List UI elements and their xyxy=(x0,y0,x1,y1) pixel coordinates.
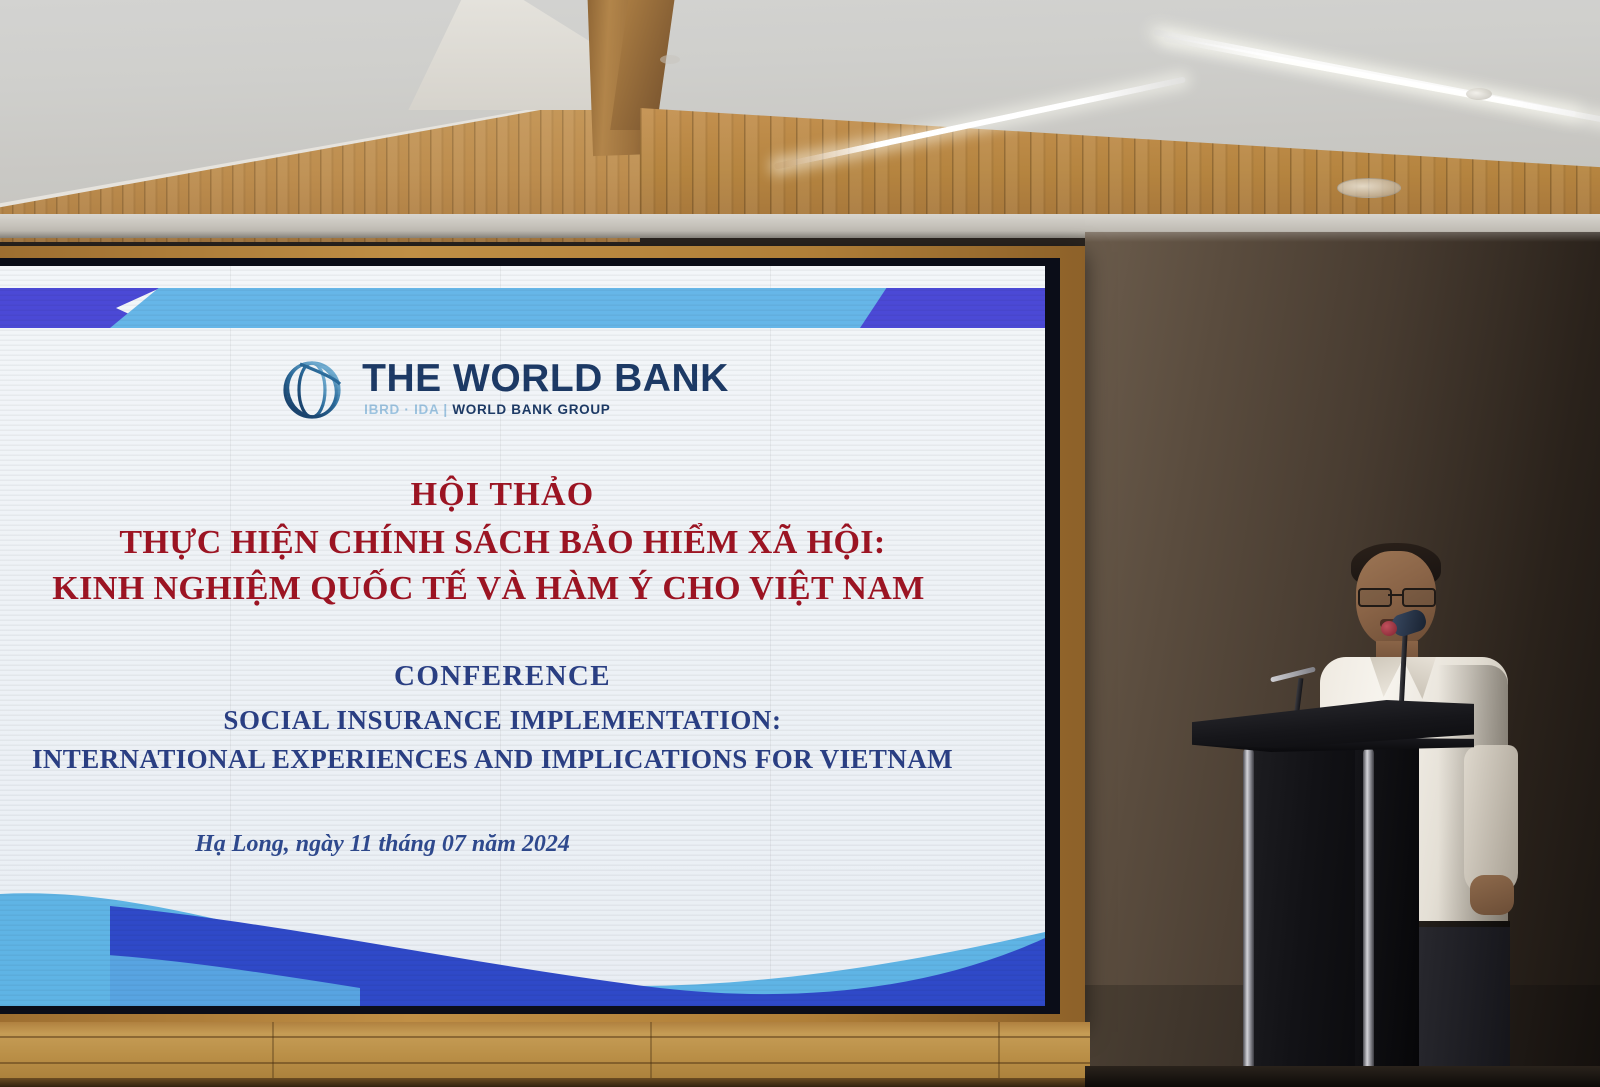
floor-strip-right xyxy=(1085,1066,1600,1087)
ceiling-fixture-icon xyxy=(660,55,680,64)
english-title-line1: CONFERENCE xyxy=(0,660,1045,693)
slide-bottom-wave-decoration xyxy=(0,806,1045,1006)
lens-left xyxy=(1358,588,1392,607)
slide-top-decorative-band xyxy=(0,288,1045,328)
brand-name: THE WORLD BANK xyxy=(362,359,729,398)
speaker-right-arm xyxy=(1464,745,1518,895)
podium-post-left xyxy=(1243,748,1254,1087)
brand-subline-divider: | xyxy=(443,402,447,417)
wall-top-highlight xyxy=(1085,232,1600,242)
conference-photo-scene: THE WORLD BANK IBRD · IDA | WORLD BANK G… xyxy=(0,0,1600,1087)
lens-right xyxy=(1402,588,1436,607)
presentation-screen: THE WORLD BANK IBRD · IDA | WORLD BANK G… xyxy=(0,266,1045,1006)
sprinkler-icon xyxy=(1466,88,1492,100)
podium-post-right xyxy=(1363,748,1374,1087)
world-bank-wordmark: THE WORLD BANK IBRD · IDA | WORLD BANK G… xyxy=(362,359,729,417)
microphone-windscreen xyxy=(1381,621,1397,636)
eyeglasses-icon xyxy=(1358,588,1434,604)
ceiling-vent-icon xyxy=(1337,178,1401,198)
wainscot-groove xyxy=(0,1062,1090,1064)
english-title-line2: SOCIAL INSURANCE IMPLEMENTATION: xyxy=(0,705,1045,736)
wainscot-groove xyxy=(0,1036,1090,1038)
speaker-right-hand xyxy=(1470,875,1514,915)
english-title-line3: INTERNATIONAL EXPERIENCES AND IMPLICATIO… xyxy=(0,744,1035,775)
world-bank-logo: THE WORLD BANK IBRD · IDA | WORLD BANK G… xyxy=(0,350,1045,426)
vietnamese-title-line2: THỰC HIỆN CHÍNH SÁCH BẢO HIỂM XÃ HỘI: xyxy=(0,524,1045,562)
globe-icon xyxy=(276,350,348,426)
band-segment-light xyxy=(110,288,920,328)
vietnamese-title-line3: KINH NGHIỆM QUỐC TẾ VÀ HÀM Ý CHO VIỆT NA… xyxy=(0,570,1031,608)
vietnamese-title-line1: HỘI THẢO xyxy=(0,476,1045,514)
slide-title-block: HỘI THẢO THỰC HIỆN CHÍNH SÁCH BẢO HIỂM X… xyxy=(0,476,1045,858)
band-segment-dark-right xyxy=(860,288,1045,328)
lens-bridge xyxy=(1388,594,1402,596)
brand-subline: IBRD · IDA | WORLD BANK GROUP xyxy=(364,403,610,417)
brand-subline-group: WORLD BANK GROUP xyxy=(452,402,610,417)
baseboard xyxy=(0,1078,1090,1087)
brand-subline-ibrd-ida: IBRD · IDA xyxy=(364,402,439,417)
